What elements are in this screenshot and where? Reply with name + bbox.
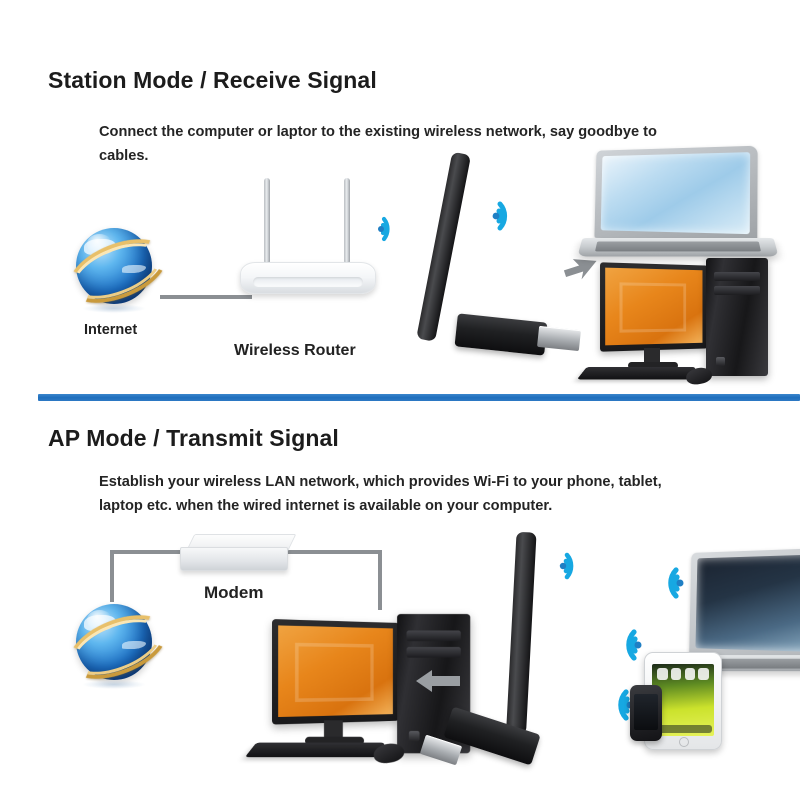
station-mode-panel: Station Mode / Receive Signal Connect th… (0, 0, 800, 396)
pc-tower (706, 258, 768, 376)
cable-internet-to-router (160, 295, 252, 299)
modem-front (180, 547, 288, 571)
laptop-screen (695, 554, 800, 652)
tablet-app-row (657, 668, 709, 680)
globe-internet-icon (68, 598, 160, 690)
globe-shadow (82, 304, 146, 313)
wireless-router-label: Wireless Router (234, 342, 356, 360)
wireless-router (240, 178, 374, 294)
router-antenna-right (344, 178, 350, 264)
pc-monitor (600, 262, 708, 351)
phone (630, 685, 662, 741)
laptop (580, 148, 780, 268)
cable-modem-to-internet-vertical (110, 550, 114, 602)
pc-keyboard (245, 743, 385, 758)
usb-wifi-adapter (404, 150, 584, 375)
station-mode-heading: Station Mode / Receive Signal (48, 67, 377, 94)
pc-monitor-screen (605, 268, 702, 346)
desktop-pc (600, 258, 780, 388)
router-body (240, 262, 376, 294)
cable-modem-to-internet-horizontal (110, 550, 186, 554)
ap-mode-description: Establish your wireless LAN network, whi… (99, 470, 679, 518)
pc-drive-bay (714, 272, 760, 281)
phone-screen (634, 694, 658, 730)
pc-keyboard (577, 367, 695, 379)
laptop-lid (594, 146, 757, 243)
ap-mode-heading: AP Mode / Transmit Signal (48, 425, 339, 452)
adapter-usb-connector (537, 326, 581, 351)
cable-modem-to-pc-vertical (378, 550, 382, 610)
wifi-signal-icon (556, 547, 594, 585)
laptop-keyboard (595, 242, 761, 252)
usb-wifi-adapter (444, 532, 574, 772)
laptop-lid (689, 548, 800, 661)
tablet-app-icon (685, 668, 696, 680)
pc-power-led (716, 357, 725, 366)
modem-label: Modem (204, 583, 264, 603)
pc-monitor-screen (278, 625, 393, 717)
globe-internet-icon (68, 222, 160, 314)
tablet-app-icon (698, 668, 709, 680)
phone-body (630, 685, 662, 741)
adapter-body (455, 313, 548, 355)
laptop-screen (601, 152, 750, 234)
internet-label: Internet (84, 322, 137, 338)
pc-monitor (272, 619, 399, 725)
laptop-base (577, 238, 778, 256)
tablet-app-icon (657, 668, 668, 680)
wifi-signal-icon (604, 624, 646, 666)
adapter-antenna (506, 532, 537, 735)
modem (180, 534, 296, 574)
globe-shadow (82, 680, 146, 689)
pc-power-led (409, 731, 420, 742)
ap-mode-panel: AP Mode / Transmit Signal Establish your… (0, 402, 800, 800)
tablet-dock-bar (654, 725, 711, 734)
wifi-signal-icon (374, 212, 408, 246)
section-divider (38, 394, 800, 401)
router-antenna-left (264, 178, 270, 264)
pc-drive-bay (714, 286, 760, 295)
tablet-home-button (679, 737, 689, 747)
tablet-app-icon (671, 668, 682, 680)
